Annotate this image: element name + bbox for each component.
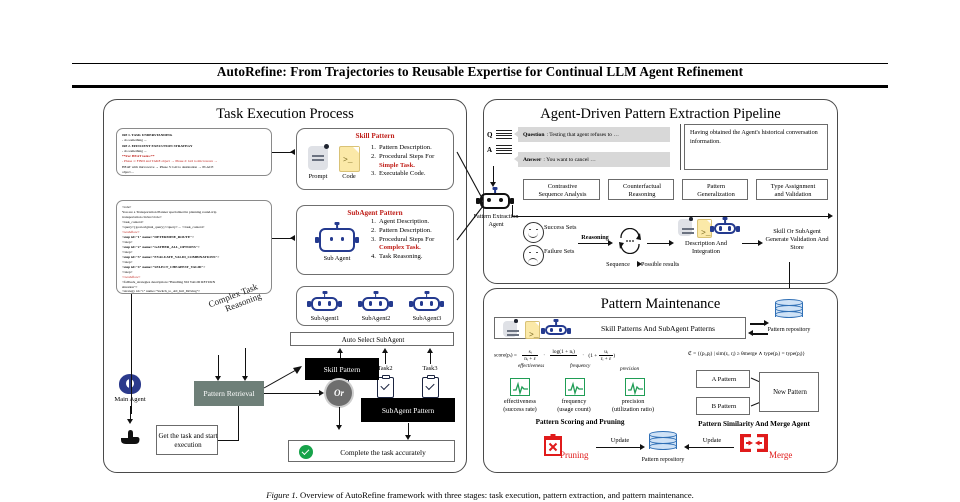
arrow-icon <box>748 330 753 336</box>
b-pattern-label: B Pattern <box>697 403 751 411</box>
metric-3-sub: (utilization ratio) <box>600 406 666 414</box>
failure-face-icon <box>523 245 544 266</box>
caption-label: Figure 1. <box>266 490 298 500</box>
code-icon <box>339 146 360 172</box>
subagent-pattern-chip: SubAgent Pattern <box>361 398 455 422</box>
metric-2-name: frequency <box>545 398 603 406</box>
subagent-item-4: Task Reasoning. <box>379 253 423 260</box>
main-agent-label: Main Agent <box>103 396 157 404</box>
arrow-icon <box>127 419 133 424</box>
task2-arrow-line <box>385 352 386 364</box>
subagent-item-3a: Procedural Steps For <box>379 236 434 243</box>
metric-1-name: effectiveness <box>488 398 552 406</box>
history-note-text: Having obtained the Agent's historical c… <box>690 129 818 145</box>
reasoning-label: Reasoning <box>575 234 615 242</box>
pattern-extraction-agent-icon <box>480 189 510 211</box>
merge-caption: Pattern Similarity And Merge Agent <box>672 420 836 429</box>
patterns-bar-label: Skill Patterns And SubAgent Patterns <box>575 324 741 333</box>
or-node: Or <box>326 380 352 406</box>
arrow-icon <box>337 348 343 353</box>
metric-1-sub: (success rate) <box>488 406 552 414</box>
skill-pattern-card: Skill Pattern Prompt Code 1.Pattern Desc… <box>296 128 454 190</box>
answer-lines-icon <box>496 145 512 155</box>
score-term1-label: effectiveness <box>518 363 544 369</box>
pattern-repository-label: Pattern repository <box>757 327 821 334</box>
step-2-line2: Reasoning <box>609 191 675 199</box>
b-pattern-box: B Pattern <box>696 397 750 415</box>
retrieval-input-line-1 <box>218 355 219 377</box>
question-bubble-tail <box>514 131 518 137</box>
subagent-pattern-items: 1.Agent Description. 2.Pattern Descripti… <box>371 218 434 262</box>
subagent2-icon <box>362 293 389 313</box>
pattern-repository-icon-bottom <box>649 431 677 455</box>
skill-pattern-chip: Skill Pattern <box>305 358 379 380</box>
question-text: : Testing that agent refuses to … <box>546 132 619 138</box>
a-pattern-label: A Pattern <box>697 376 751 384</box>
panel-title-pattern-extraction: Agent-Driven Pattern Extraction Pipeline <box>484 106 837 123</box>
sub-agent-icon <box>714 219 736 236</box>
subagent-item-2: Pattern Description. <box>379 227 432 234</box>
connector-gettask-to-retrieval <box>218 440 238 441</box>
skill-item-1: Pattern Description. <box>379 144 432 151</box>
question-lines-icon <box>496 130 512 140</box>
step-3-line1: Pattern <box>683 183 749 191</box>
prompt-badge-icon <box>689 217 693 221</box>
scoring-caption: Pattern Scoring and Pruning <box>490 418 670 427</box>
sub-agent-icon <box>545 321 567 337</box>
complete-task-box: Complete the task accurately <box>288 440 455 462</box>
merge-update-line <box>688 447 734 448</box>
arrow-icon <box>382 348 388 353</box>
precision-metric-icon <box>625 378 645 396</box>
step-pattern-generalization: Pattern Generalization <box>682 179 748 200</box>
doc-line: <step id="4" name="SELECT_CHEAPEST_VALID… <box>122 265 205 269</box>
retrieval-to-or-line <box>264 393 320 394</box>
prompt-label: Prompt <box>303 173 333 181</box>
success-sets-label: Success Sets <box>544 224 578 232</box>
arrow-icon <box>758 240 763 246</box>
code-label: Code <box>334 173 364 181</box>
step-3-line2: Generalization <box>683 191 749 199</box>
question-bubble: Question: Testing that agent refuses to … <box>518 127 670 142</box>
task3-arrow-line <box>430 352 431 364</box>
doc-line: <step id="1" name="DETERMINE_ROUTE"> <box>122 235 194 239</box>
doc-line: <step id="2" name="GATHER_ALL_OPTIONS"> <box>122 245 200 249</box>
vertical-divider <box>680 124 681 170</box>
subagent3-label: SubAgent3 <box>401 315 453 323</box>
score-formula-lhs: score(pᵢ) = <box>494 353 517 359</box>
prompt-icon <box>503 321 517 337</box>
page-fold-icon <box>353 147 359 153</box>
subagent2-label: SubAgent2 <box>350 315 402 323</box>
sequence-label: Sequence <box>598 261 638 269</box>
agent-to-pipeline-line <box>512 205 513 217</box>
prompt-document: ### 1. TASK UNDERSTANDING - do something… <box>116 128 272 176</box>
question-label: Question <box>523 132 544 138</box>
cycle-icon <box>617 228 643 254</box>
score-term2-num: log(1 + nᵢ) <box>550 349 577 356</box>
doc-to-retrieval-line <box>131 294 132 414</box>
answer-text: : You want to cancel … <box>543 157 596 163</box>
or-label: Or <box>334 388 344 398</box>
step-contrastive-sequence-analysis: Contrastive Sequence Analysis <box>523 179 600 200</box>
success-check-icon <box>299 445 313 459</box>
pipeline-flow-line <box>512 216 830 217</box>
subagent1-icon <box>311 293 338 313</box>
prompt-icon <box>678 219 692 236</box>
get-task-label: Get the task and start execution <box>157 432 219 451</box>
pointing-hand-icon <box>119 427 141 447</box>
pruning-label: Pruning <box>560 450 610 461</box>
update-left-label: Update <box>596 437 644 445</box>
merge-label: Merge <box>769 450 817 461</box>
doc-line: ### 2. EFFICIENT EXECUTION STRATEGY <box>122 144 193 148</box>
subagent-item-3b: Complex Task. <box>379 244 421 251</box>
subagent-pattern-chip-label: SubAgent Pattern <box>382 406 434 415</box>
code-icon <box>525 321 540 339</box>
doc-line: object ... <box>122 170 266 175</box>
score-term2-label: frequency <box>570 363 590 369</box>
history-note-box: Having obtained the Agent's historical c… <box>684 124 828 170</box>
pattern-repository-icon <box>775 299 803 323</box>
arrow-icon <box>290 149 295 155</box>
doc-line: ### 1. TASK UNDERSTANDING <box>122 133 172 137</box>
merge-formula: ℭ = {(pᵢ,pⱼ) | sim(rᵢ, rⱼ) ≥ θmerge ∧ ty… <box>688 351 805 357</box>
answer-bubble-tail <box>514 156 518 162</box>
prompt-badge-icon <box>514 319 518 323</box>
task3-checklist-icon <box>422 377 439 398</box>
step-4-line1: Type Assignment <box>757 183 829 191</box>
complete-task-label: Complete the task accurately <box>317 448 449 457</box>
connector-up-to-retrieval <box>238 405 239 441</box>
skill-pattern-chip-label: Skill Pattern <box>324 365 361 374</box>
score-term1-num: sᵢ <box>522 349 538 356</box>
subagent1-label: SubAgent1 <box>299 315 351 323</box>
page-fold-icon <box>707 220 711 224</box>
auto-select-label: Auto Select SubAgent <box>291 336 455 345</box>
question-letter-icon: Q <box>487 131 492 139</box>
retrieval-to-skill-arrow <box>262 366 306 390</box>
figure-page: AutoRefine: From Trajectories to Reusabl… <box>0 0 960 502</box>
task3-label: Task3 <box>412 365 448 373</box>
arrow-icon <box>427 348 433 353</box>
arrow-icon <box>684 444 689 450</box>
new-pattern-label: New Pattern <box>760 389 820 397</box>
step-type-assignment-validation: Type Assignment and Validation <box>756 179 828 200</box>
or-to-complete-line <box>339 407 340 427</box>
auto-select-subagent-bar: Auto Select SubAgent <box>290 332 454 346</box>
effectiveness-metric-icon <box>510 378 530 396</box>
subagent-pattern-card: SubAgent Pattern Sub Agent 1.Agent Descr… <box>296 205 454 275</box>
arrow-icon <box>336 425 342 430</box>
answer-letter-icon: A <box>487 146 492 154</box>
skill-pattern-title: Skill Pattern <box>297 132 453 140</box>
step-2-line1: Counterfactual <box>609 183 675 191</box>
step-counterfactual-reasoning: Counterfactual Reasoning <box>608 179 674 200</box>
answer-label: Answer <box>523 157 541 163</box>
a-pattern-box: A Pattern <box>696 370 750 388</box>
arrow-icon <box>319 390 324 396</box>
page-fold-icon <box>535 322 539 326</box>
cycle-to-desc-line <box>647 243 671 244</box>
arrow-icon <box>828 213 833 219</box>
arrow-icon <box>290 235 295 241</box>
retrieval-input-line-2 <box>245 348 246 377</box>
panel-title-task-execution: Task Execution Process <box>104 106 466 123</box>
description-integration-label: Description And Integration <box>673 240 739 256</box>
step-4-line2: and Validation <box>757 191 829 199</box>
repo-bottom-label: Pattern repository <box>631 457 695 464</box>
frequency-metric-icon <box>565 378 585 396</box>
sub-agent-label: Sub Agent <box>309 255 365 263</box>
step-1-line2: Sequence Analysis <box>524 191 601 199</box>
metric-3-name: precision <box>602 398 664 406</box>
subagent-item-1: Agent Description. <box>379 218 429 225</box>
pruning-update-line <box>596 447 642 448</box>
skill-item-3: Executable Code. <box>379 170 426 177</box>
subagent3-icon <box>413 293 440 313</box>
task2-checklist-icon <box>377 377 394 398</box>
answer-bubble: Answer: You want to cancel … <box>518 152 670 167</box>
title-rule-bottom <box>72 85 888 88</box>
score-term3-num: uᵢ <box>599 349 614 356</box>
failure-sets-label: Failure Sets <box>544 248 578 256</box>
subagent-pattern-title: SubAgent Pattern <box>297 209 453 217</box>
reasoning-line <box>578 243 610 244</box>
success-face-icon <box>523 222 544 243</box>
score-term3-den: rᵢ + ε <box>599 356 614 362</box>
code-document: <role> You are a Transportation Planner … <box>116 200 272 294</box>
pattern-retrieval-block: Pattern Retrieval <box>194 381 264 406</box>
doc-line: **For HEAT tasks:** <box>122 154 154 158</box>
update-right-label: Update <box>688 437 736 445</box>
skill-subagent-patterns-bar: Skill Patterns And SubAgent Patterns <box>494 317 746 339</box>
caption-text: Overview of AutoRefine framework with th… <box>300 490 694 500</box>
score-formula: score(pᵢ) = sᵢ nᵢ + ε · log(1 + nᵢ) · (1… <box>494 349 615 362</box>
score-term3-label: precision <box>620 366 639 372</box>
skill-item-2a: Procedural Steps For <box>379 153 434 160</box>
generate-store-label: Skill Or SubAgent Generate Validation An… <box>765 228 829 251</box>
skill-pattern-items: 1.Pattern Description. 2.Procedural Step… <box>371 144 434 179</box>
get-task-box: Get the task and start execution <box>156 425 218 455</box>
score-term3-prefix: 1 + <box>590 353 597 359</box>
arrow-icon <box>764 320 769 326</box>
figure-caption: Figure 1. Overview of AutoRefine framewo… <box>72 490 888 500</box>
arrow-icon <box>640 444 645 450</box>
arrow-icon <box>242 376 248 381</box>
doc-line: <step id="3" name="EVALUATE_VALID_COMBIN… <box>122 255 219 259</box>
step-1-line1: Contrastive <box>524 183 601 191</box>
arrow-icon <box>215 376 221 381</box>
possible-results-label: Possible results <box>641 261 695 269</box>
prompt-icon <box>308 146 328 170</box>
merge-icon <box>740 433 768 453</box>
subagents-card: SubAgent1 SubAgent2 SubAgent3 <box>296 286 454 326</box>
sub-agent-icon <box>319 224 355 254</box>
main-agent-icon <box>119 374 141 394</box>
new-pattern-box: New Pattern <box>759 372 819 412</box>
score-term1-den: nᵢ + ε <box>522 356 538 362</box>
pattern-retrieval-label: Pattern Retrieval <box>203 389 254 398</box>
metric-2-sub: (usage count) <box>545 406 603 414</box>
skill-item-2b: Simple Task. <box>379 162 415 169</box>
page-title: AutoRefine: From Trajectories to Reusabl… <box>72 64 888 80</box>
prompt-badge-icon <box>324 144 329 149</box>
